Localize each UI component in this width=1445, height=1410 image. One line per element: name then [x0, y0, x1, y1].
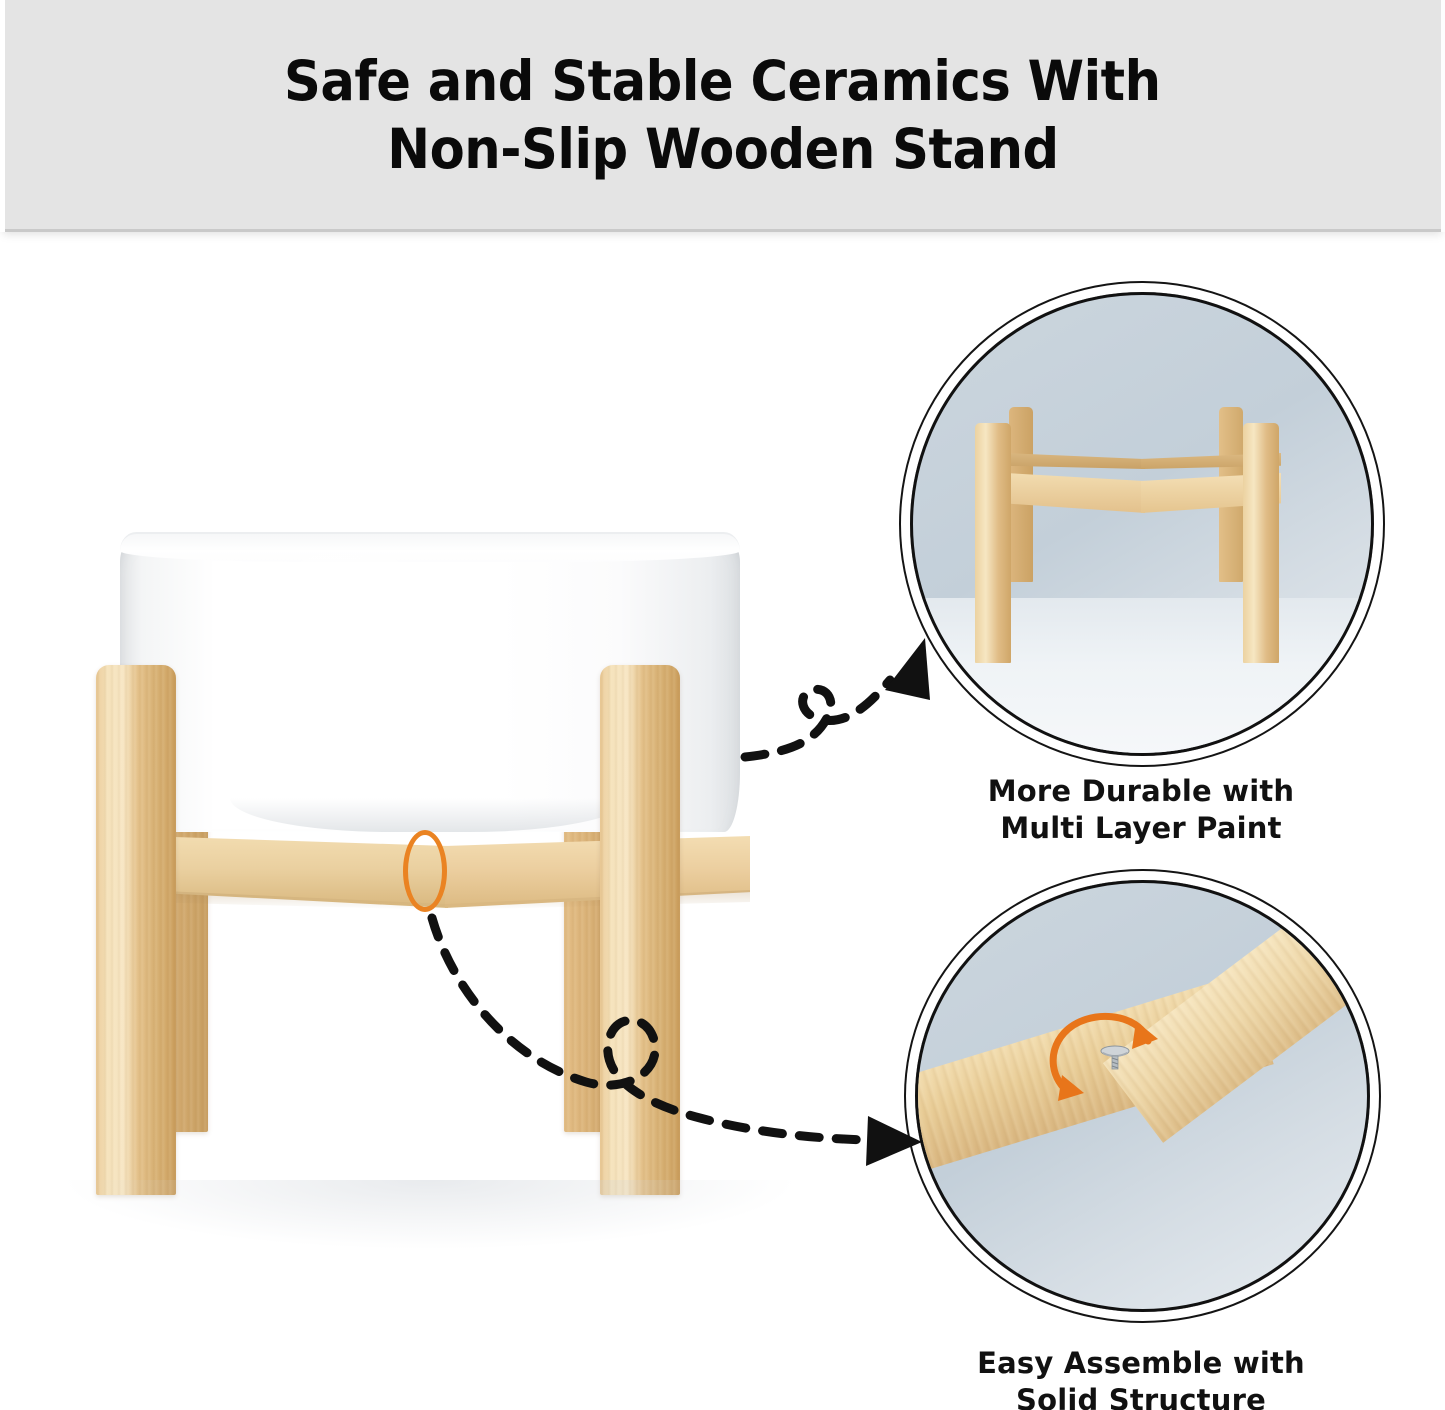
- callout-caption-durable-paint: More Durable with Multi Layer Paint: [906, 773, 1376, 847]
- caption-line-1: More Durable with: [906, 773, 1376, 810]
- callout-inset-durable-paint: [910, 292, 1374, 756]
- stand-leg-front-right: [600, 665, 680, 1195]
- callout-caption-easy-assemble: Easy Assemble with Solid Structure: [906, 1345, 1376, 1410]
- joint-highlight-ellipse: [403, 830, 447, 912]
- callout-inset-easy-assemble: [915, 880, 1370, 1312]
- wood-grain-texture: [600, 665, 680, 1195]
- page-title-line-1: Safe and Stable Ceramics With: [284, 47, 1161, 115]
- floor-reflection: [60, 1180, 800, 1250]
- caption-line-2: Multi Layer Paint: [906, 810, 1376, 847]
- infographic-page: Safe and Stable Ceramics With Non-Slip W…: [0, 0, 1445, 1410]
- screw-icon: [1098, 1043, 1132, 1073]
- bowl-lower-shading: [230, 798, 630, 832]
- wood-grain-texture: [96, 665, 176, 1195]
- inset-stand-leg-front-right: [1243, 423, 1279, 663]
- header-banner: Safe and Stable Ceramics With Non-Slip W…: [0, 0, 1445, 232]
- caption-line-1: Easy Assemble with: [906, 1345, 1376, 1382]
- caption-line-2: Solid Structure: [906, 1382, 1376, 1410]
- stand-leg-front-left: [96, 665, 176, 1195]
- bowl-highlight: [230, 550, 470, 820]
- page-title-line-2: Non-Slip Wooden Stand: [387, 115, 1058, 183]
- bowl-rim: [120, 532, 740, 562]
- inset-stand-leg-front-left: [975, 423, 1011, 663]
